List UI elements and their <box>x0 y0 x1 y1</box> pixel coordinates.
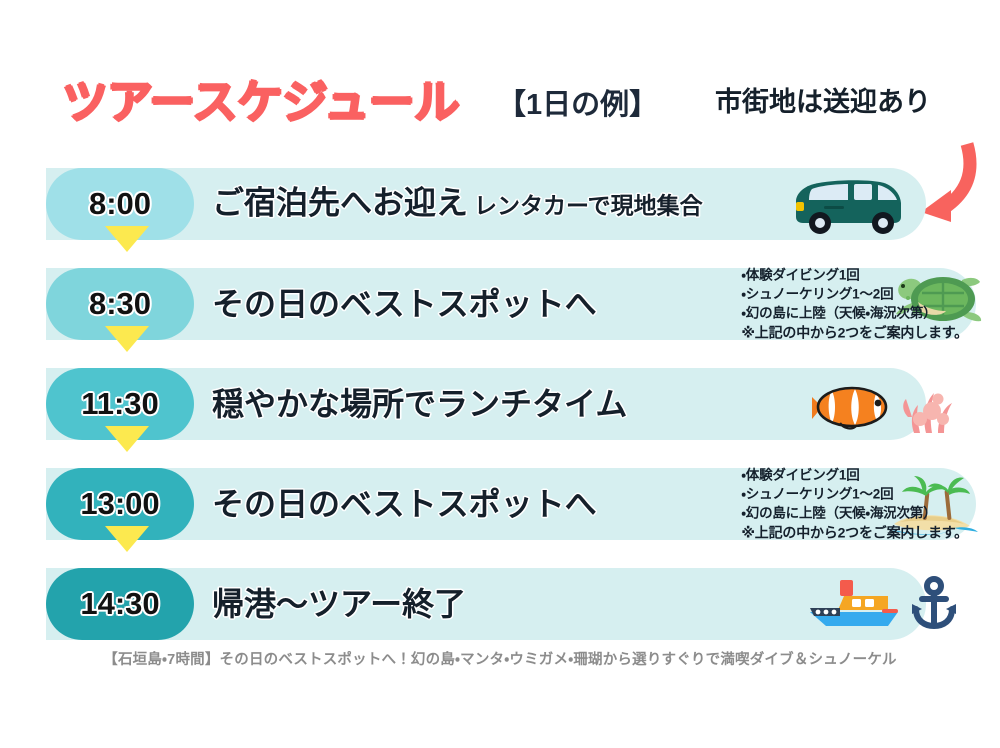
bullet-note: ※上記の中から2つをご案内します。 <box>741 523 968 543</box>
time-label: 13:00 <box>80 487 159 521</box>
row-title-main: ご宿泊先へお迎え <box>212 185 468 221</box>
header: ツアースケジュール 【1日の例】 市街地は送迎あり <box>0 74 1000 144</box>
step-connector-arrow <box>105 426 149 452</box>
page-subtitle: 【1日の例】 <box>497 84 658 126</box>
pickup-badge: 市街地は送迎あり <box>709 81 937 123</box>
row-title-main: その日のベストスポットへ <box>212 486 597 522</box>
bullet-note: ※上記の中から2つをご案内します。 <box>741 323 968 343</box>
bullet-item: ・幻の島に上陸（天候・海況次第） <box>741 504 968 523</box>
row-title-main: 帰港〜ツアー終了 <box>212 586 466 622</box>
schedule-row[interactable]: 11:30 穏やかな場所でランチタイム <box>0 368 1000 440</box>
step-connector-arrow <box>105 326 149 352</box>
time-label: 14:30 <box>80 587 159 621</box>
row-title-main: 穏やかな場所でランチタイム <box>212 386 627 422</box>
schedule-row[interactable]: 8:30 その日のベストスポットへ ・体験ダイビング1回 ・シュノーケリング1〜… <box>0 268 1000 340</box>
row-title: その日のベストスポットへ <box>212 484 597 524</box>
schedule-row[interactable]: 14:30 帰港〜ツアー終了 <box>0 568 1000 640</box>
row-title: ご宿泊先へお迎えレンタカーで現地集合 <box>212 183 703 226</box>
bullet-item: ・シュノーケリング1〜2回 <box>741 485 968 504</box>
time-pill: 14:30 <box>46 568 194 640</box>
time-label: 8:00 <box>89 187 151 221</box>
row-title: その日のベストスポットへ <box>212 284 597 324</box>
bullet-item: ・シュノーケリング1〜2回 <box>741 285 968 304</box>
row-bullet-list: ・体験ダイビング1回 ・シュノーケリング1〜2回 ・幻の島に上陸（天候・海況次第… <box>741 466 968 543</box>
bullet-item: ・体験ダイビング1回 <box>741 266 968 285</box>
schedule-list: 8:00 ご宿泊先へお迎えレンタカーで現地集合 <box>0 168 1000 640</box>
row-title: 穏やかな場所でランチタイム <box>212 384 627 424</box>
step-connector-arrow <box>105 226 149 252</box>
bullet-item: ・体験ダイビング1回 <box>741 466 968 485</box>
row-title-main: その日のベストスポットへ <box>212 286 597 322</box>
tour-schedule-infographic: ツアースケジュール 【1日の例】 市街地は送迎あり 8:00 ご宿泊先へお迎えレ… <box>0 0 1000 748</box>
bullet-item: ・幻の島に上陸（天候・海況次第） <box>741 304 968 323</box>
schedule-row[interactable]: 13:00 その日のベストスポットへ ・体験ダイビング1回 ・シュノーケリング1… <box>0 468 1000 540</box>
time-label: 8:30 <box>89 287 151 321</box>
row-bullet-list: ・体験ダイビング1回 ・シュノーケリング1〜2回 ・幻の島に上陸（天候・海況次第… <box>741 266 968 343</box>
schedule-row[interactable]: 8:00 ご宿泊先へお迎えレンタカーで現地集合 <box>0 168 1000 240</box>
page-title: ツアースケジュール <box>62 74 459 130</box>
footer-caption: 【石垣島・7時間】その日のベストスポットへ！幻の島・マンタ・ウミガメ・珊瑚から選… <box>0 648 1000 669</box>
step-connector-arrow <box>105 526 149 552</box>
row-title: 帰港〜ツアー終了 <box>212 584 466 624</box>
time-label: 11:30 <box>81 387 159 421</box>
row-subtitle: レンタカーで現地集合 <box>474 193 703 219</box>
